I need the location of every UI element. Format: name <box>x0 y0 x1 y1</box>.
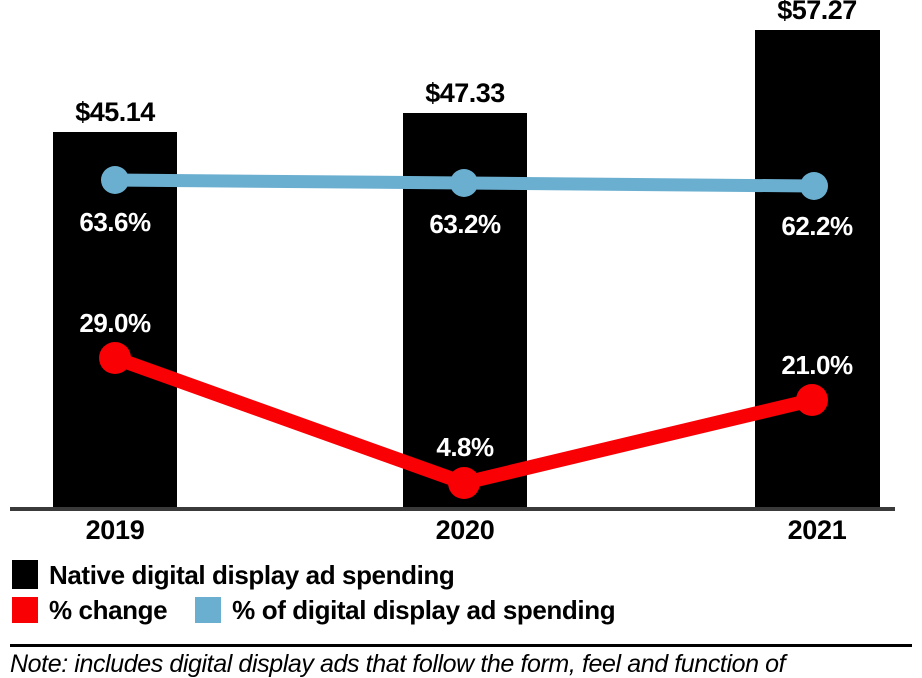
x-tick-label-2020: 2020 <box>436 515 495 546</box>
change-marker-2019 <box>99 342 131 374</box>
plot-area: $45.14 $47.33 $57.27 63.6% 63.2% 62.2% 2… <box>0 0 922 512</box>
share-marker-2019 <box>101 166 129 194</box>
x-tick-label-2019: 2019 <box>86 515 145 546</box>
bar-value-2019: $45.14 <box>75 97 155 128</box>
change-value-2020: 4.8% <box>436 432 493 463</box>
legend-row-primary: Native digital display ad spending <box>12 557 912 592</box>
share-line-series <box>101 166 828 200</box>
change-marker-2021 <box>796 384 828 416</box>
native-ad-spending-chart: $45.14 $47.33 $57.27 63.6% 63.2% 62.2% 2… <box>0 0 922 675</box>
share-value-2021: 62.2% <box>781 211 852 242</box>
x-axis-line <box>10 507 895 511</box>
legend-label-percent-of-display: % of digital display ad spending <box>232 597 615 623</box>
share-marker-2021 <box>800 172 828 200</box>
bar-value-2021: $57.27 <box>777 0 857 26</box>
legend-item-percent-of-display[interactable]: % of digital display ad spending <box>195 597 615 623</box>
chart-note: Note: includes digital display ads that … <box>10 650 915 678</box>
share-value-2019: 63.6% <box>79 207 150 238</box>
share-marker-2020 <box>450 169 478 197</box>
bar-2021 <box>755 30 880 509</box>
legend-label-native-spending: Native digital display ad spending <box>49 562 454 588</box>
x-tick-label-2021: 2021 <box>788 515 847 546</box>
note-divider <box>10 644 912 647</box>
change-value-2019: 29.0% <box>79 308 150 339</box>
legend-label-percent-change: % change <box>49 597 167 623</box>
change-marker-2020 <box>448 467 480 499</box>
legend-swatch-blue-line-icon <box>195 597 221 623</box>
bar-value-2020: $47.33 <box>425 78 505 109</box>
legend-item-native-spending[interactable]: Native digital display ad spending <box>12 560 454 589</box>
change-value-2021: 21.0% <box>781 350 852 381</box>
legend-row-secondary: % change % of digital display ad spendin… <box>12 592 912 627</box>
legend-swatch-red-line-icon <box>12 597 38 623</box>
chart-legend: Native digital display ad spending % cha… <box>12 557 912 627</box>
legend-swatch-bar-icon <box>12 560 38 589</box>
share-value-2020: 63.2% <box>429 209 500 240</box>
legend-item-percent-change[interactable]: % change <box>12 597 167 623</box>
